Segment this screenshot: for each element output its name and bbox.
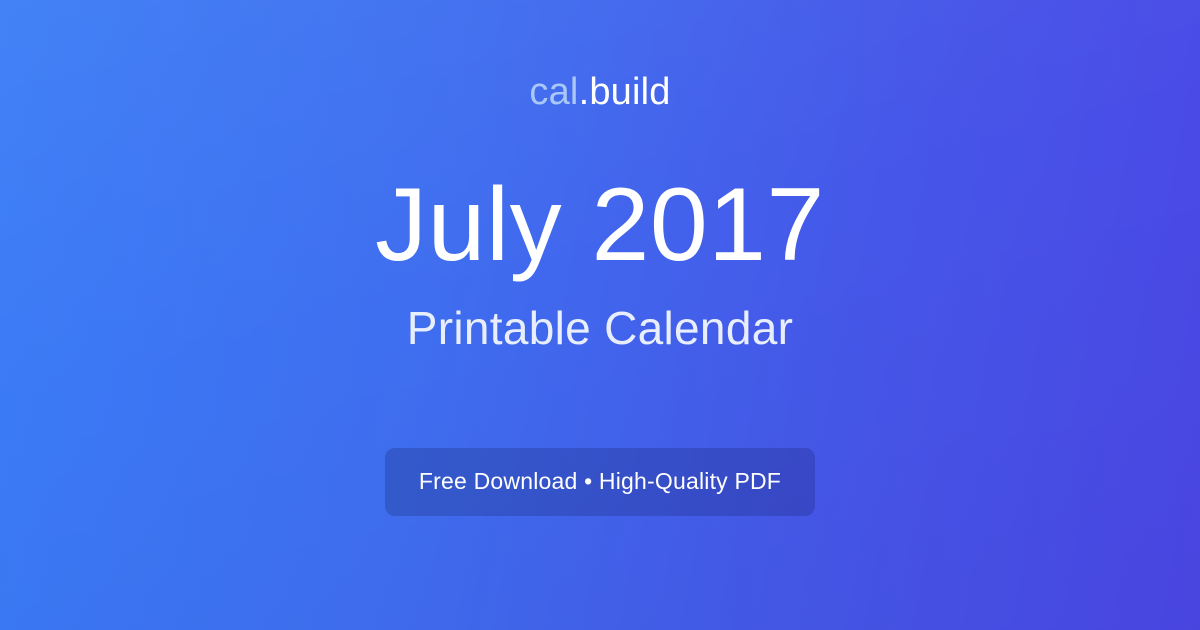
brand-logo[interactable]: cal.build xyxy=(529,73,670,111)
brand-logo-secondary: .build xyxy=(579,71,671,113)
og-preview-card: cal.build July 2017 Printable Calendar F… xyxy=(0,0,1200,630)
badge-row: Free Download • High-Quality PDF xyxy=(0,448,1200,516)
page-subtitle: Printable Calendar xyxy=(0,303,1200,354)
page-title: July 2017 xyxy=(0,173,1200,277)
hero-text-block: July 2017 Printable Calendar xyxy=(0,173,1200,354)
brand-logo-primary: cal xyxy=(529,71,578,113)
download-badge[interactable]: Free Download • High-Quality PDF xyxy=(385,448,815,516)
